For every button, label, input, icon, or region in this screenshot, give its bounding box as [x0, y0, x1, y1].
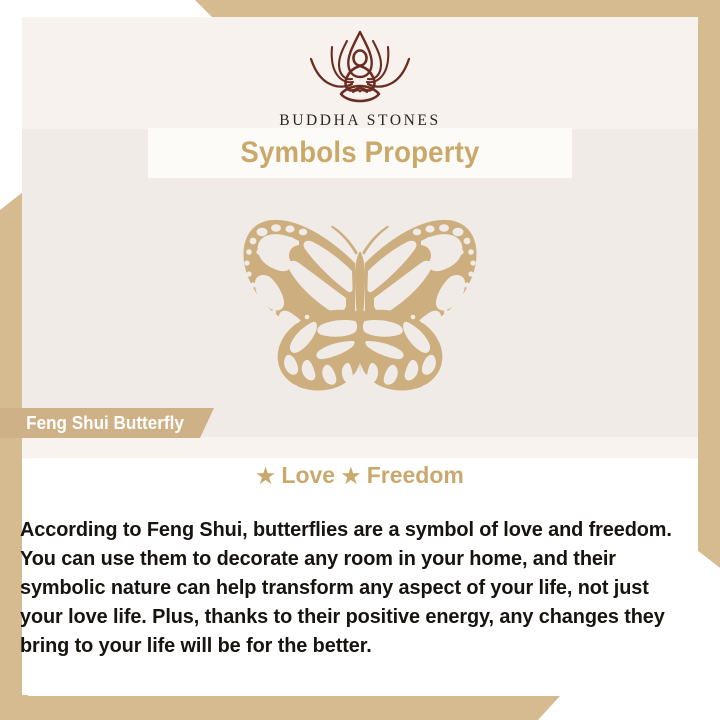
infographic-page: BUDDHA STONES Symbols Property: [0, 0, 720, 720]
hero-label-text: Feng Shui Butterfly: [26, 413, 184, 434]
butterfly-icon: [195, 205, 525, 405]
frame-strip-bottom: [0, 696, 560, 720]
divider-band: [22, 437, 698, 458]
page-title: Symbols Property: [240, 136, 479, 170]
heading-word-freedom: Freedom: [367, 462, 464, 488]
frame-strip-top: [190, 0, 720, 17]
title-panel: Symbols Property: [148, 128, 572, 178]
star-icon-middle: ★: [341, 465, 360, 488]
brand-block: BUDDHA STONES: [0, 26, 720, 130]
lotus-meditation-icon: [285, 26, 435, 108]
hero-label-banner: Feng Shui Butterfly: [0, 408, 214, 438]
hero-image-wrap: [0, 205, 720, 410]
body-paragraph: According to Feng Shui, butterflies are …: [20, 515, 683, 660]
star-icon-left: ★: [256, 465, 275, 488]
heading-word-love: Love: [281, 462, 335, 488]
section-heading: ★ Love ★ Freedom: [0, 462, 720, 489]
